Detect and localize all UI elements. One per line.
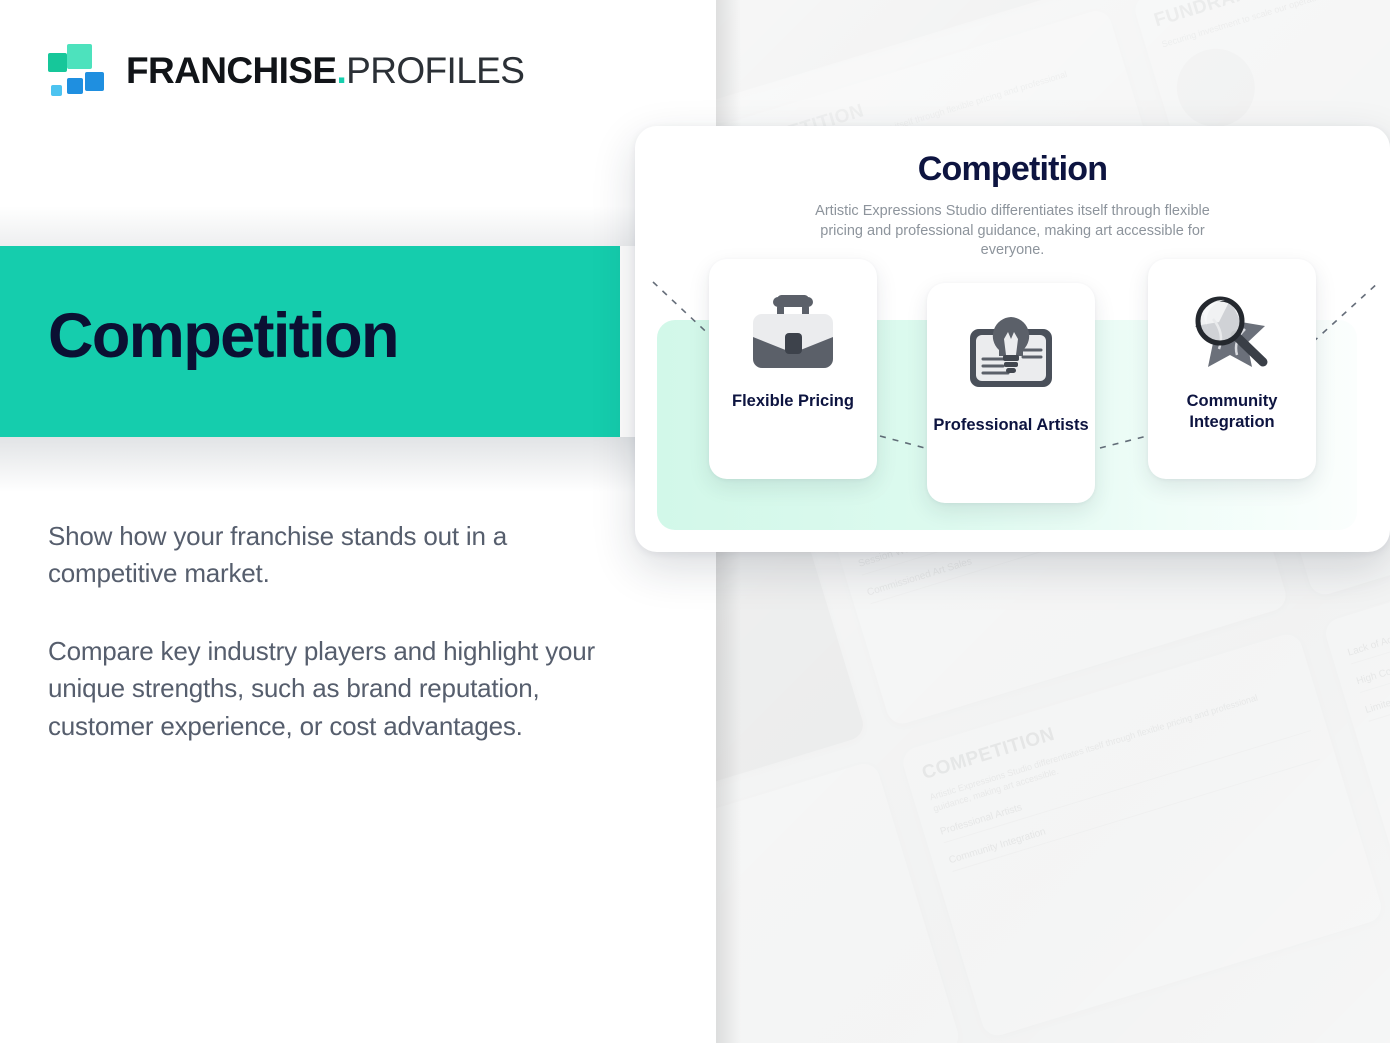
feature-label: Professional Artists [927,415,1094,436]
magnifier-star-icon [1183,283,1281,383]
lightbulb-screen-icon [962,307,1060,407]
feature-label: Flexible Pricing [726,391,860,412]
feature-card-professional-artists[interactable]: Professional Artists [927,283,1095,503]
feature-card-flexible-pricing[interactable]: Flexible Pricing [709,259,877,479]
slide-preview-subtitle: Artistic Expressions Studio differentiat… [813,202,1213,261]
brand-logo[interactable]: FRANCHISE.PROFILES [48,44,524,96]
franchise-profiles-logo-icon [48,44,104,96]
description-paragraph-2: Compare key industry players and highlig… [48,633,620,745]
slide-canvas: Drop-In Fees Session Workshops Commissio… [0,0,1390,1043]
description-paragraph-1: Show how your franchise stands out in a … [48,518,620,593]
slide-preview-title: Competition [635,150,1390,189]
section-description: Show how your franchise stands out in a … [48,518,620,745]
logo-bold-text: FRANCHISE [126,50,336,91]
feature-label: Community Integration [1148,391,1316,433]
left-panel-top [0,0,716,246]
page-title: Competition [48,305,398,368]
feature-card-community-integration[interactable]: Community Integration [1148,259,1316,479]
briefcase-icon [744,283,842,383]
logo-light-text: PROFILES [346,50,524,91]
brand-logo-text: FRANCHISE.PROFILES [126,52,524,89]
slide-preview-card[interactable]: Competition Artistic Expressions Studio … [635,126,1390,552]
logo-dot: . [336,50,346,91]
